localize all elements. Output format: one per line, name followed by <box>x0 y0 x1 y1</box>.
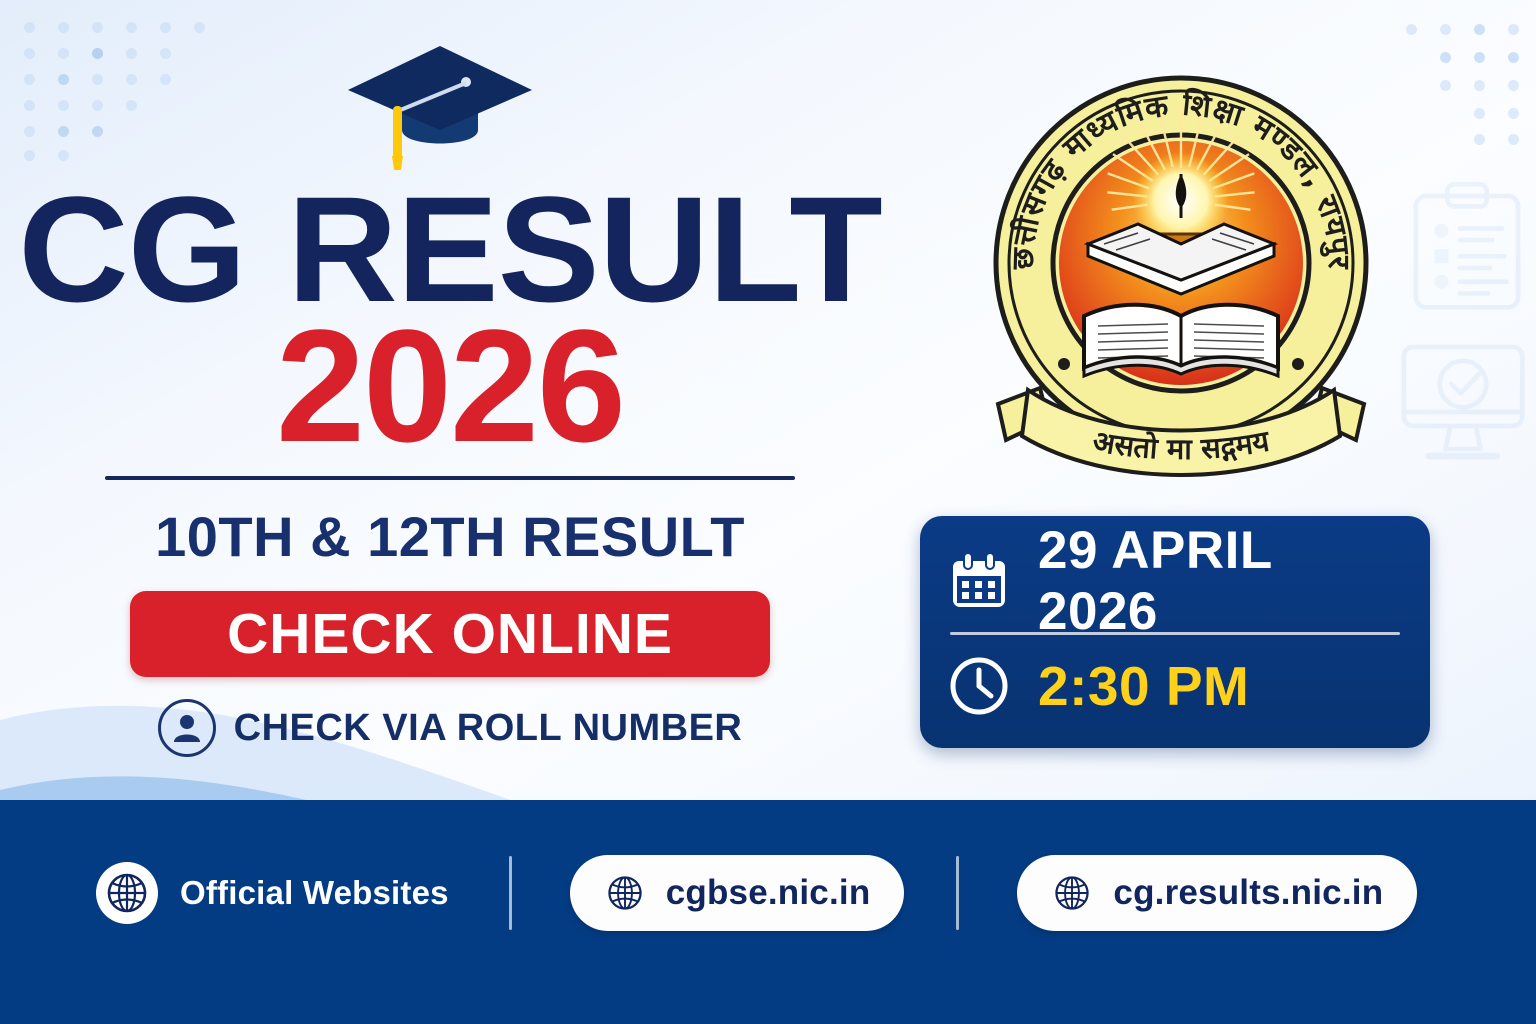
globe-icon <box>96 862 158 924</box>
website-link-cgbse[interactable]: cgbse.nic.in <box>570 855 905 931</box>
cg-result-banner: CG RESULT 2026 10TH & 12TH RESULT CHECK … <box>0 0 1536 1024</box>
headline-block: CG RESULT 2026 10TH & 12TH RESULT CHECK … <box>0 38 900 757</box>
official-websites-label: Official Websites <box>180 874 449 912</box>
cgbse-board-emblem: छत्तीसगढ़ माध्यमिक शिक्षा मण्डल, रायपुर … <box>988 48 1374 478</box>
dot-grid-top-right <box>1406 20 1536 160</box>
globe-icon <box>604 872 646 914</box>
schedule-time-row: 2:30 PM <box>946 641 1404 731</box>
roll-number-label: CHECK VIA ROLL NUMBER <box>234 707 743 750</box>
official-websites-bar: Official Websites cgbse.nic.in <box>0 800 1536 1024</box>
graduation-cap-icon <box>0 38 890 170</box>
user-icon <box>158 699 216 757</box>
website-link-cg-results[interactable]: cg.results.nic.in <box>1017 855 1417 931</box>
schedule-date-row: 29 APRIL 2026 <box>946 536 1404 626</box>
roll-number-note: CHECK VIA ROLL NUMBER <box>130 699 770 757</box>
title-divider <box>105 476 795 480</box>
website-label-cg-results: cg.results.nic.in <box>1113 873 1383 913</box>
website-label-cgbse: cgbse.nic.in <box>666 873 871 913</box>
result-schedule-card: 29 APRIL 2026 2:30 PM <box>920 516 1430 748</box>
globe-icon <box>1051 872 1093 914</box>
footer-divider-2 <box>956 856 959 930</box>
check-online-button[interactable]: CHECK ONLINE <box>130 591 770 677</box>
result-time: 2:30 PM <box>1038 654 1249 718</box>
footer-divider-1 <box>509 856 512 930</box>
check-online-label: CHECK ONLINE <box>227 601 673 667</box>
page-title-main: CG RESULT <box>0 180 909 318</box>
monitor-check-icon <box>1398 340 1528 470</box>
calendar-icon <box>946 548 1012 614</box>
page-subtitle: 10TH & 12TH RESULT <box>0 504 900 569</box>
result-date: 29 APRIL 2026 <box>1038 520 1404 642</box>
clock-icon <box>946 653 1012 719</box>
clipboard-checklist-icon <box>1408 182 1526 312</box>
